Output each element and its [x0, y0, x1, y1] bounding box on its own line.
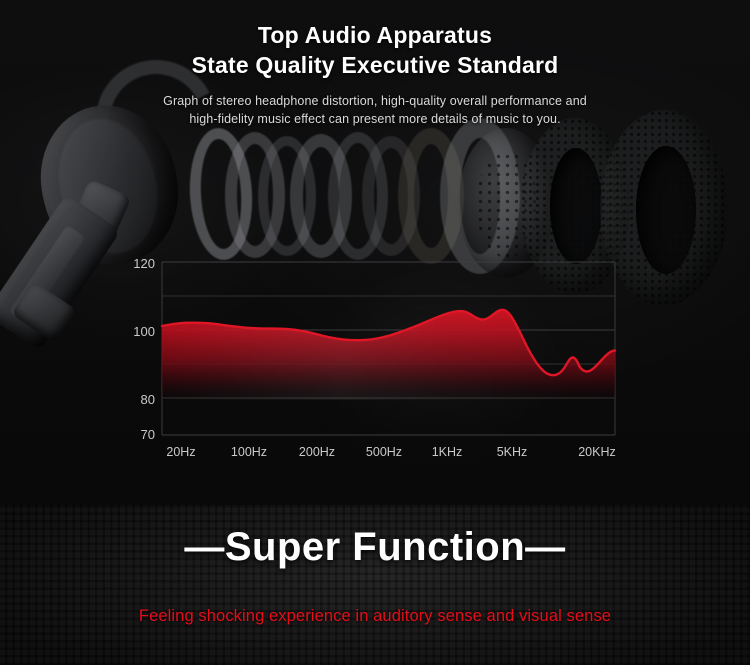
x-tick-500hz: 500Hz — [366, 445, 402, 459]
y-tick-100: 100 — [133, 324, 155, 339]
banner-title: —Super Function— — [0, 523, 750, 571]
super-function-banner: —Super Function— Feeling shocking experi… — [0, 505, 750, 665]
x-tick-20hz: 20Hz — [166, 445, 195, 459]
hero-desc-line-1: Graph of stereo headphone distortion, hi… — [0, 92, 750, 110]
y-tick-120: 120 — [133, 256, 155, 271]
y-tick-70: 70 — [141, 427, 155, 442]
hero-description: Graph of stereo headphone distortion, hi… — [0, 92, 750, 128]
x-tick-1khz: 1KHz — [432, 445, 463, 459]
x-tick-5khz: 5KHz — [497, 445, 528, 459]
hero-desc-line-2: high-fidelity music effect can present m… — [0, 110, 750, 128]
chart-x-axis-labels: 20Hz 100Hz 200Hz 500Hz 1KHz 5KHz 20KHz — [166, 445, 615, 459]
x-tick-20khz: 20KHz — [578, 445, 616, 459]
hero-panel: Top Audio Apparatus State Quality Execut… — [0, 0, 750, 505]
promo-page: Top Audio Apparatus State Quality Execut… — [0, 0, 750, 665]
chart-y-axis-labels: 120 100 80 70 — [133, 256, 155, 442]
area-sheen-overlay — [162, 310, 615, 400]
banner-subtitle: Feeling shocking experience in auditory … — [0, 605, 750, 627]
x-tick-200hz: 200Hz — [299, 445, 335, 459]
hero-title-line-1: Top Audio Apparatus — [0, 20, 750, 50]
hero-heading: Top Audio Apparatus State Quality Execut… — [0, 20, 750, 80]
x-tick-100hz: 100Hz — [231, 445, 267, 459]
y-tick-80: 80 — [141, 392, 155, 407]
chart-area-series — [162, 310, 615, 400]
hero-title-line-2: State Quality Executive Standard — [0, 50, 750, 80]
